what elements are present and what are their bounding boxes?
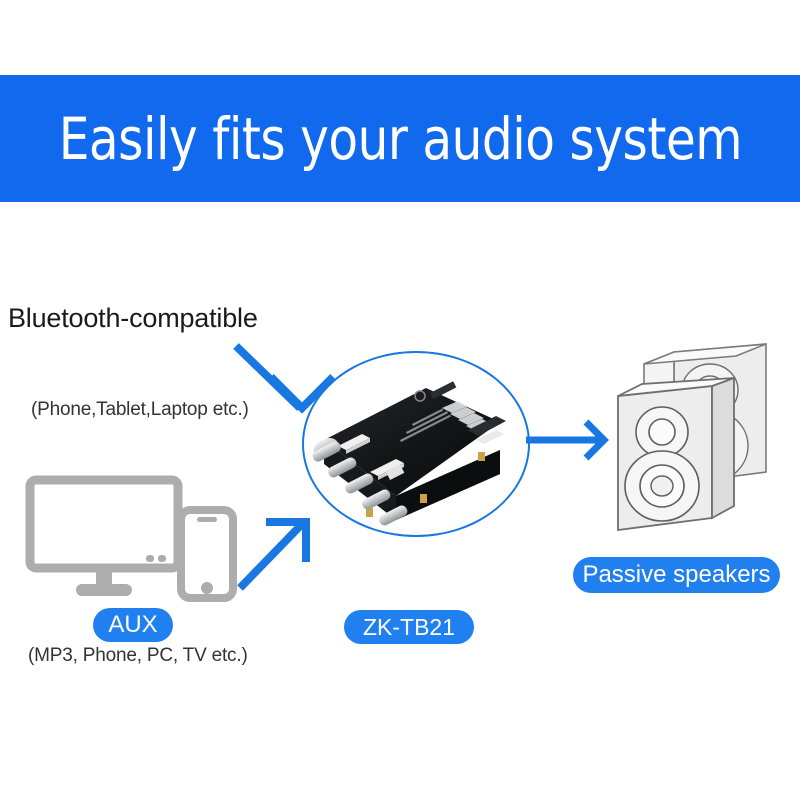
passive-speakers-chip: Passive speakers	[573, 557, 780, 593]
passive-speaker-pair-icon	[596, 334, 788, 550]
bluetooth-source-sublabel: (Phone,Tablet,Laptop etc.)	[31, 399, 249, 421]
aux-chip: AUX	[93, 608, 173, 642]
amplifier-board-icon	[300, 368, 515, 528]
zk-tb21-chip: ZK-TB21	[344, 610, 474, 644]
monitor-icon	[30, 480, 178, 596]
speaker-front	[618, 378, 734, 530]
bluetooth-source-label: Bluetooth-compatible	[8, 303, 258, 334]
aux-device-icons	[24, 472, 244, 602]
headline-banner: Easily fits your audio system	[0, 75, 800, 202]
page-title: Easily fits your audio system	[58, 105, 741, 173]
product-infographic-page: Easily fits your audio system Bluetooth-…	[0, 0, 800, 800]
aux-source-sublabel: (MP3, Phone, PC, TV etc.)	[28, 645, 248, 667]
smartphone-icon	[181, 510, 233, 598]
